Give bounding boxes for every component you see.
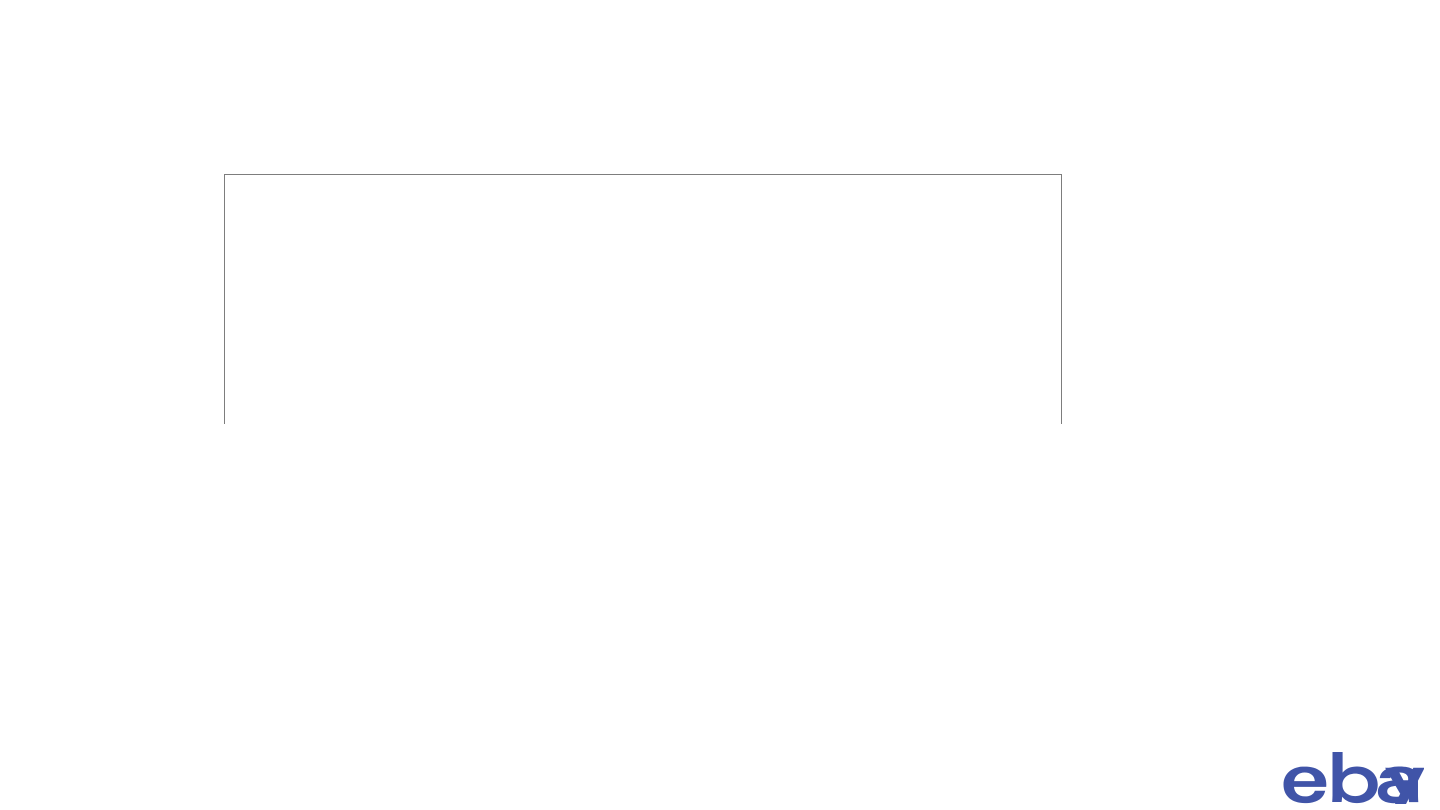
silhouette-table bbox=[224, 174, 1062, 424]
timeline-svg bbox=[0, 455, 1440, 665]
silhouette-table-header-row bbox=[225, 175, 1061, 194]
ebay-logo bbox=[1282, 752, 1424, 804]
timeline-graphic bbox=[0, 455, 1440, 665]
slide-canvas bbox=[0, 0, 1440, 810]
ebay-logo-icon bbox=[1282, 752, 1424, 804]
